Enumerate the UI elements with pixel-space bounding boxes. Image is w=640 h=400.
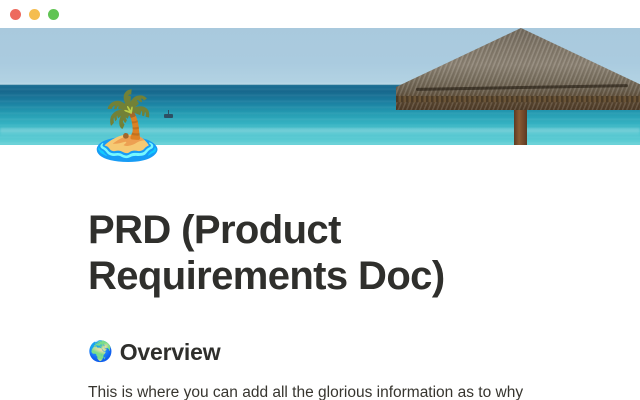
earth-globe-icon: 🌍 bbox=[88, 342, 113, 362]
app-window: 🏝️ PRD (Product Requirements Doc) 🌍 Over… bbox=[0, 0, 640, 400]
page-content: PRD (Product Requirements Doc) 🌍 Overvie… bbox=[0, 145, 640, 400]
close-window-button[interactable] bbox=[10, 9, 21, 20]
window-titlebar bbox=[0, 0, 640, 28]
maximize-window-button[interactable] bbox=[48, 9, 59, 20]
section-heading-label: Overview bbox=[120, 337, 221, 367]
desert-island-emoji-icon[interactable]: 🏝️ bbox=[86, 92, 168, 158]
overview-paragraph[interactable]: This is where you can add all the glorio… bbox=[88, 367, 552, 400]
page-title[interactable]: PRD (Product Requirements Doc) bbox=[88, 145, 552, 299]
window-traffic-lights bbox=[10, 9, 59, 20]
palapa-umbrella bbox=[396, 28, 640, 145]
section-heading-overview[interactable]: 🌍 Overview bbox=[88, 299, 552, 367]
minimize-window-button[interactable] bbox=[29, 9, 40, 20]
